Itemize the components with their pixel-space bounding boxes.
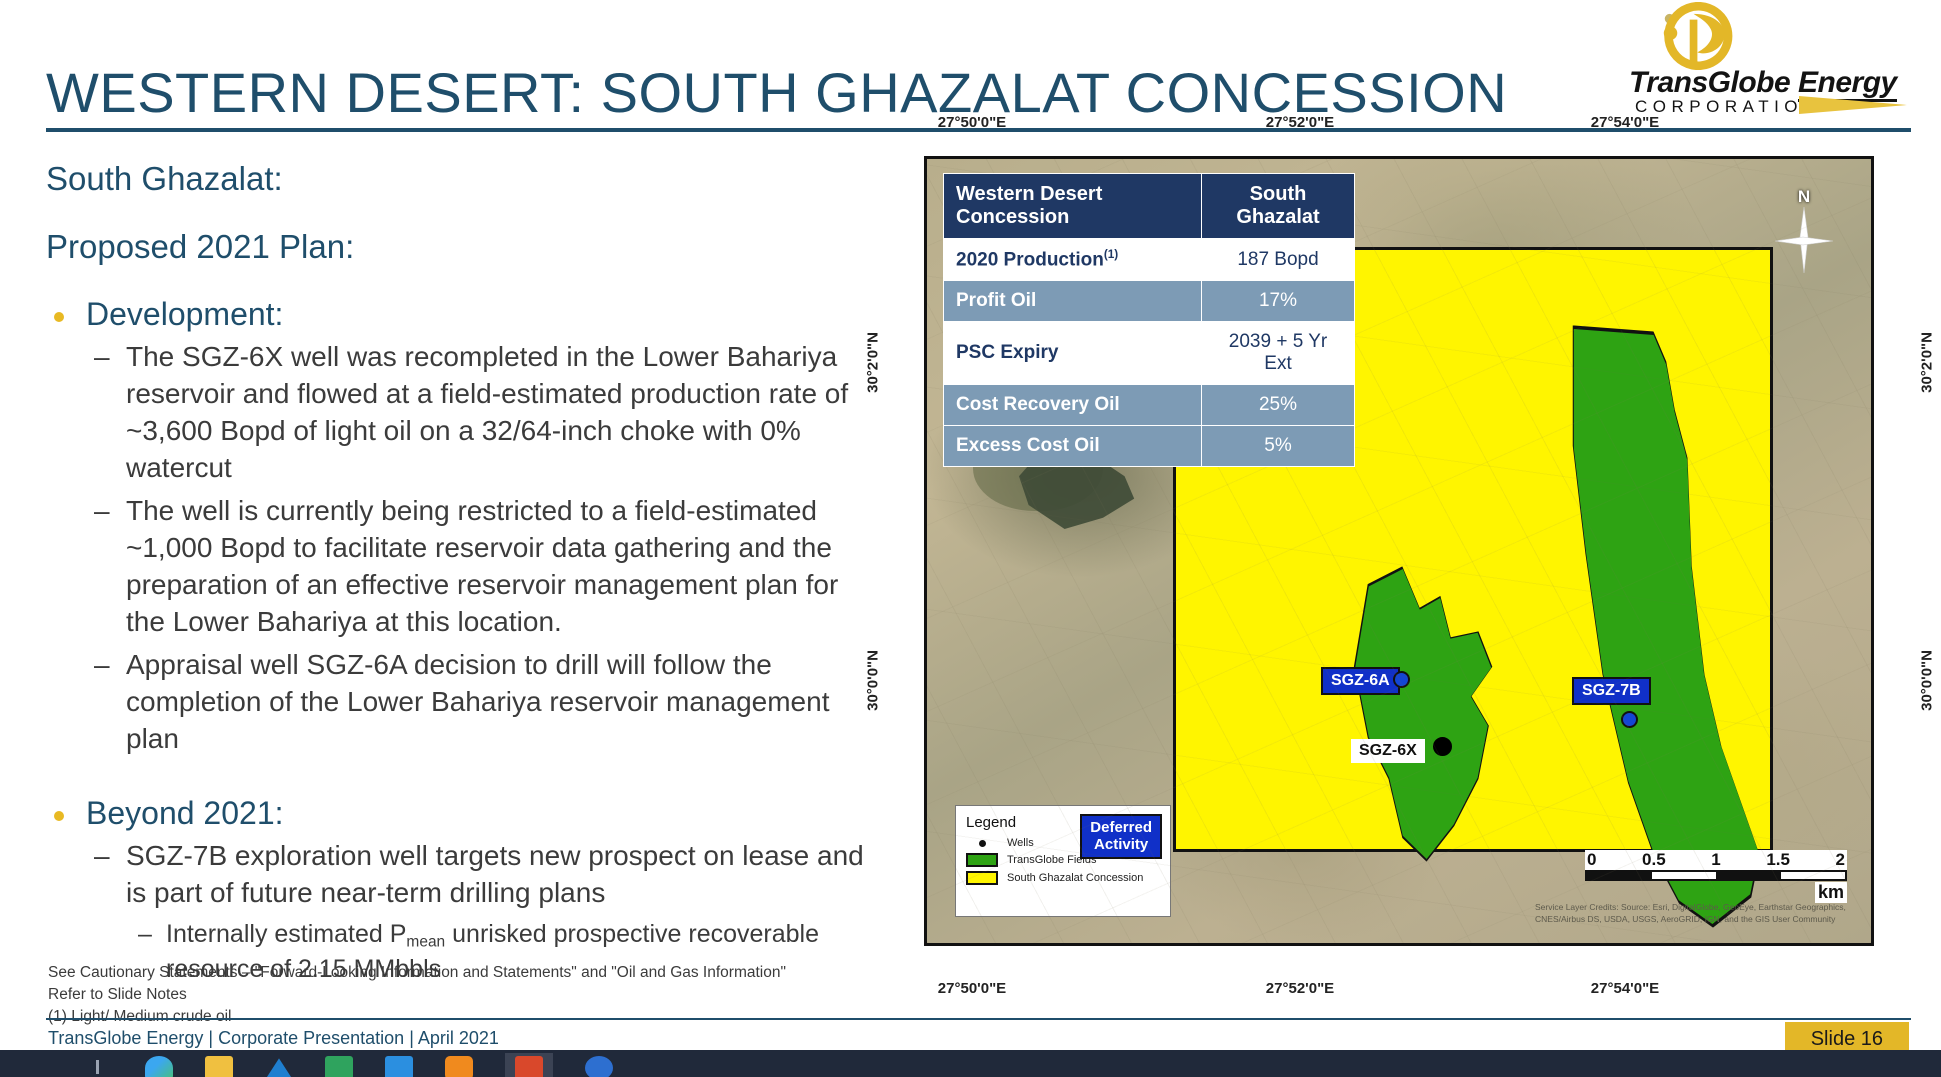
table-cell-key: 2020 Production(1) bbox=[944, 239, 1202, 281]
os-taskbar[interactable] bbox=[0, 1050, 1941, 1077]
map-panel: 27°50'0"E 27°52'0"E 27°54'0"E 27°50'0"E … bbox=[890, 142, 1910, 978]
scalebar-unit: km bbox=[1815, 882, 1847, 903]
bullet-item: SGZ-7B exploration well targets new pros… bbox=[46, 838, 876, 912]
slide-body: South Ghazalat: Proposed 2021 Plan: Deve… bbox=[46, 160, 876, 986]
spreadsheet-icon[interactable] bbox=[325, 1056, 353, 1077]
globe-app-icon[interactable] bbox=[585, 1056, 613, 1077]
bullet-item: Appraisal well SGZ-6A decision to drill … bbox=[46, 647, 876, 758]
bullet-item: The well is currently being restricted t… bbox=[46, 493, 876, 641]
well-marker-sgz-6x[interactable] bbox=[1433, 737, 1452, 756]
coord-label: 30°2'0"N bbox=[865, 332, 882, 393]
table-cell-key: Cost Recovery Oil bbox=[944, 385, 1202, 426]
satellite-map[interactable]: SGZ-6A SGZ-7B SGZ-6X N 0 0.5 1 bbox=[924, 156, 1874, 946]
scalebar-tick: 1 bbox=[1711, 850, 1720, 870]
map-attribution: Service Layer Credits: Source: Esri, Dig… bbox=[1535, 902, 1855, 925]
legend-item-concession: South Ghazalat Concession bbox=[966, 871, 1160, 885]
map-coords-right: 30°2'0"N 30°0'0"N bbox=[1914, 142, 1940, 978]
cloud-drive-icon[interactable] bbox=[265, 1056, 293, 1077]
coord-label: 27°52'0"E bbox=[1266, 114, 1334, 131]
table-cell-value: 17% bbox=[1202, 281, 1355, 322]
table-cell-value: 5% bbox=[1202, 426, 1355, 467]
map-coords-left: 30°2'0"N 30°0'0"N bbox=[860, 142, 886, 978]
map-coords-bottom: 27°50'0"E 27°52'0"E 27°54'0"E bbox=[890, 980, 1910, 1006]
image-viewer-icon[interactable] bbox=[445, 1056, 473, 1077]
concession-terms-table: Western Desert Concession South Ghazalat… bbox=[943, 173, 1355, 467]
yellow-swatch-icon bbox=[966, 871, 998, 885]
table-cell-key: Profit Oil bbox=[944, 281, 1202, 322]
well-label-sgz-6a[interactable]: SGZ-6A bbox=[1321, 667, 1400, 695]
table-row: Cost Recovery Oil 25% bbox=[944, 385, 1355, 426]
table-header: Western Desert Concession South Ghazalat bbox=[944, 174, 1355, 239]
coord-label: 30°0'0"N bbox=[865, 650, 882, 711]
cell-key-text: 2020 Production bbox=[956, 249, 1104, 270]
logo-wordmark: TransGlobe Energy bbox=[1629, 66, 1897, 100]
deferred-activity-badge: Deferred Activity bbox=[1080, 814, 1162, 859]
compass-star-icon bbox=[1771, 201, 1837, 289]
section-beyond-2021: Beyond 2021: bbox=[46, 795, 876, 832]
table-row: Excess Cost Oil 5% bbox=[944, 426, 1355, 467]
map-coords-top: 27°50'0"E 27°52'0"E 27°54'0"E bbox=[890, 114, 1910, 140]
table-cell-value: 25% bbox=[1202, 385, 1355, 426]
deferred-line-1: Deferred bbox=[1090, 819, 1152, 836]
well-marker-sgz-7b[interactable] bbox=[1621, 711, 1638, 728]
logo-swoosh-icon bbox=[1799, 96, 1907, 114]
table-body: 2020 Production(1) 187 Bopd Profit Oil 1… bbox=[944, 239, 1355, 467]
subbullet-subscript: mean bbox=[406, 934, 445, 951]
coord-label: 27°54'0"E bbox=[1591, 980, 1659, 997]
footnote-line: (1) Light/ Medium crude oil bbox=[48, 1006, 786, 1028]
coord-label: 27°54'0"E bbox=[1591, 114, 1659, 131]
table-cell-key: Excess Cost Oil bbox=[944, 426, 1202, 467]
transglobe-logo: TransGlobe Energy CORPORATION bbox=[1621, 2, 1921, 120]
coord-label: 27°50'0"E bbox=[938, 980, 1006, 997]
map-legend: Legend Deferred Activity Wells TransGlob… bbox=[955, 805, 1171, 917]
table-row: PSC Expiry 2039 + 5 Yr Ext bbox=[944, 322, 1355, 385]
presentation-icon[interactable] bbox=[515, 1056, 543, 1077]
scalebar-tick: 0 bbox=[1587, 850, 1596, 870]
files-icon[interactable] bbox=[205, 1056, 233, 1077]
header-value-line-1: South bbox=[1214, 183, 1342, 206]
table-cell-value: 2039 + 5 Yr Ext bbox=[1202, 322, 1355, 385]
section-development: Development: bbox=[46, 296, 876, 333]
deferred-line-2: Activity bbox=[1090, 836, 1152, 853]
table-cell-key: PSC Expiry bbox=[944, 322, 1202, 385]
taskbar-icon-group bbox=[96, 1053, 613, 1077]
green-swatch-icon bbox=[966, 853, 998, 867]
compass-rose-icon: N bbox=[1771, 187, 1837, 275]
table-header-row: Western Desert Concession South Ghazalat bbox=[944, 174, 1355, 239]
coord-label: 27°50'0"E bbox=[938, 114, 1006, 131]
logo-wordmark-transglobe: TransGlobe bbox=[1629, 66, 1790, 99]
footer-divider bbox=[46, 1018, 1911, 1020]
globe-swirl-icon bbox=[1659, 2, 1755, 70]
scalebar-bar bbox=[1585, 870, 1847, 881]
presentation-slide: WESTERN DESERT: SOUTH GHAZALAT CONCESSIO… bbox=[0, 0, 1941, 1077]
subbullet-pre: Internally estimated P bbox=[166, 920, 406, 948]
well-label-sgz-6x[interactable]: SGZ-6X bbox=[1351, 739, 1425, 763]
scalebar-ticks: 0 0.5 1 1.5 2 bbox=[1585, 850, 1847, 870]
footnote-line: See Cautionary Statements – "Forward-Loo… bbox=[48, 962, 786, 984]
table-header-value: South Ghazalat bbox=[1202, 174, 1355, 239]
taskbar-active-app[interactable] bbox=[505, 1053, 553, 1077]
table-header-key: Western Desert Concession bbox=[944, 174, 1202, 239]
coord-label: 30°2'0"N bbox=[1919, 332, 1936, 393]
browser-icon[interactable] bbox=[145, 1056, 173, 1077]
table-cell-value: 187 Bopd bbox=[1202, 239, 1355, 281]
legend-item-label: South Ghazalat Concession bbox=[1007, 872, 1143, 884]
lead-south-ghazalat: South Ghazalat: bbox=[46, 160, 876, 198]
taskbar-separator-icon bbox=[96, 1060, 99, 1074]
header-key-line-1: Western Desert bbox=[956, 183, 1189, 206]
header-value-line-2: Ghazalat bbox=[1214, 206, 1342, 229]
wells-dot-icon bbox=[966, 840, 998, 847]
table-row: Profit Oil 17% bbox=[944, 281, 1355, 322]
map-scalebar: 0 0.5 1 1.5 2 km bbox=[1585, 850, 1847, 881]
footer-text: TransGlobe Energy | Corporate Presentati… bbox=[48, 1028, 499, 1049]
well-marker-sgz-6a[interactable] bbox=[1393, 671, 1410, 688]
scalebar-tick: 0.5 bbox=[1642, 850, 1666, 870]
cell-key-superscript: (1) bbox=[1104, 248, 1118, 261]
document-icon[interactable] bbox=[385, 1056, 413, 1077]
scalebar-tick: 1.5 bbox=[1766, 850, 1790, 870]
coord-label: 27°52'0"E bbox=[1266, 980, 1334, 997]
coord-label: 30°0'0"N bbox=[1919, 650, 1936, 711]
lead-proposed-plan: Proposed 2021 Plan: bbox=[46, 228, 876, 266]
table-row: 2020 Production(1) 187 Bopd bbox=[944, 239, 1355, 281]
well-label-sgz-7b[interactable]: SGZ-7B bbox=[1572, 677, 1651, 705]
legend-item-label: Wells bbox=[1007, 837, 1034, 849]
footnote-line: Refer to Slide Notes bbox=[48, 984, 786, 1006]
scalebar-tick: 2 bbox=[1836, 850, 1845, 870]
bullet-item: The SGZ-6X well was recompleted in the L… bbox=[46, 339, 876, 487]
header-key-line-2: Concession bbox=[956, 206, 1189, 229]
